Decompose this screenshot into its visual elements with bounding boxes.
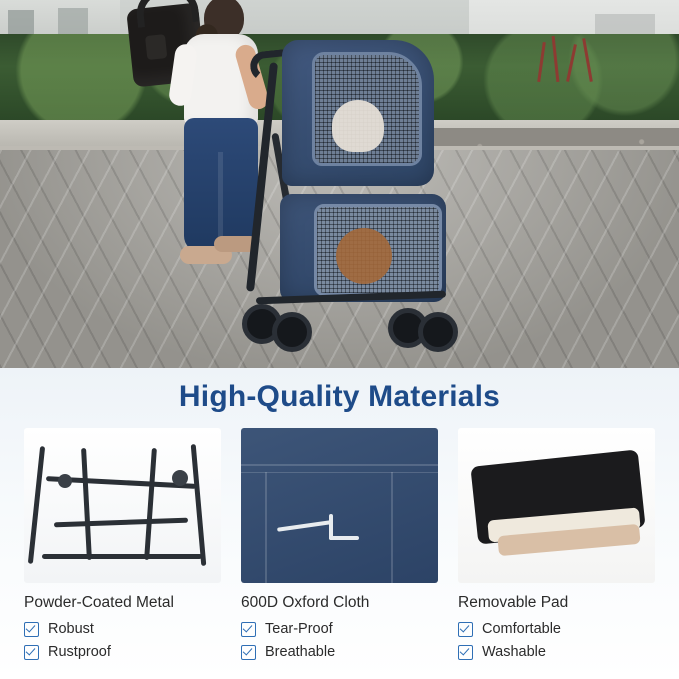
material-image-removable-pad bbox=[458, 428, 655, 583]
material-caption: Removable Pad bbox=[458, 594, 655, 612]
feature-list: Comfortable Washable bbox=[458, 621, 655, 660]
feature-label: Tear-Proof bbox=[265, 621, 333, 637]
feature-label: Breathable bbox=[265, 644, 335, 660]
check-icon bbox=[24, 622, 39, 637]
materials-panel: High-Quality Materials Powder-Coated Met… bbox=[0, 368, 679, 679]
feature-item: Rustproof bbox=[24, 644, 221, 660]
feature-item: Tear-Proof bbox=[241, 621, 438, 637]
cat bbox=[332, 100, 384, 152]
pet-stroller bbox=[236, 22, 456, 352]
dog bbox=[336, 228, 392, 284]
feature-item: Breathable bbox=[241, 644, 438, 660]
material-caption: Powder-Coated Metal bbox=[24, 594, 221, 612]
material-card: Removable Pad Comfortable Washable bbox=[458, 428, 655, 667]
lifestyle-photo bbox=[0, 0, 679, 368]
check-icon bbox=[458, 622, 473, 637]
stroller-wheel bbox=[418, 312, 458, 352]
feature-list: Tear-Proof Breathable bbox=[241, 621, 438, 660]
material-image-metal-frame bbox=[24, 428, 221, 583]
material-card: 600D Oxford Cloth Tear-Proof Breathable bbox=[241, 428, 438, 667]
check-icon bbox=[458, 645, 473, 660]
feature-item: Robust bbox=[24, 621, 221, 637]
red-plant bbox=[536, 36, 606, 88]
material-image-oxford-cloth bbox=[241, 428, 438, 583]
check-icon bbox=[241, 645, 256, 660]
material-card: Powder-Coated Metal Robust Rustproof bbox=[24, 428, 221, 667]
material-caption: 600D Oxford Cloth bbox=[241, 594, 438, 612]
feature-list: Robust Rustproof bbox=[24, 621, 221, 660]
feature-label: Comfortable bbox=[482, 621, 561, 637]
feature-label: Rustproof bbox=[48, 644, 111, 660]
feature-item: Comfortable bbox=[458, 621, 655, 637]
panel-title: High-Quality Materials bbox=[0, 380, 679, 414]
feature-label: Washable bbox=[482, 644, 546, 660]
backpack-pocket bbox=[145, 34, 167, 60]
material-cards: Powder-Coated Metal Robust Rustproof bbox=[24, 428, 655, 667]
product-infographic: High-Quality Materials Powder-Coated Met… bbox=[0, 0, 679, 679]
check-icon bbox=[241, 622, 256, 637]
stroller-wheel bbox=[272, 312, 312, 352]
stroller-pole-front bbox=[246, 62, 278, 292]
feature-item: Washable bbox=[458, 644, 655, 660]
feature-label: Robust bbox=[48, 621, 94, 637]
check-icon bbox=[24, 645, 39, 660]
